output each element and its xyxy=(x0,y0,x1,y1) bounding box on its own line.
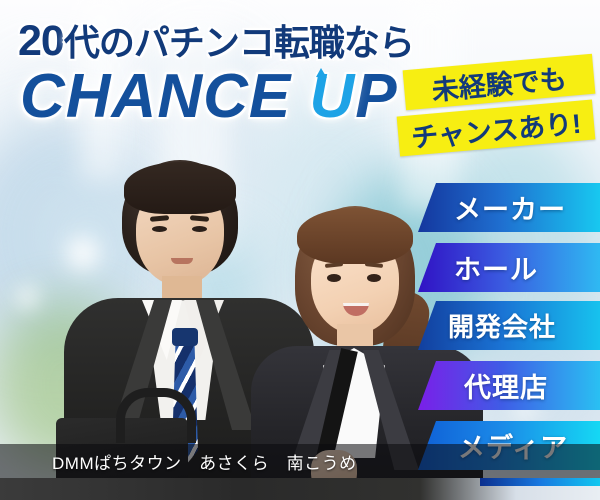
category-button-hall[interactable]: ホール xyxy=(418,243,600,292)
ad-banner: 20代のパチンコ転職なら CHANCE UP 未経験でも チャンスあり! メーカ… xyxy=(0,0,600,500)
category-label: 代理店 xyxy=(464,366,548,405)
caption-text: DMMぱちタウン あさくら 南こうめ xyxy=(52,449,357,474)
category-label: 開発会社 xyxy=(448,307,556,344)
category-button-developer[interactable]: 開発会社 xyxy=(418,301,600,350)
category-button-maker[interactable]: メーカー xyxy=(418,183,600,232)
category-button-agency[interactable]: 代理店 xyxy=(418,361,600,410)
category-list: メーカー ホール 開発会社 代理店 メディア xyxy=(0,0,600,500)
category-label: メーカー xyxy=(454,188,566,227)
category-label: ホール xyxy=(454,248,538,287)
bottom-strip xyxy=(0,478,600,500)
caption-bar: DMMぱちタウン あさくら 南こうめ xyxy=(0,444,600,478)
bottom-accent-bar xyxy=(480,478,600,486)
